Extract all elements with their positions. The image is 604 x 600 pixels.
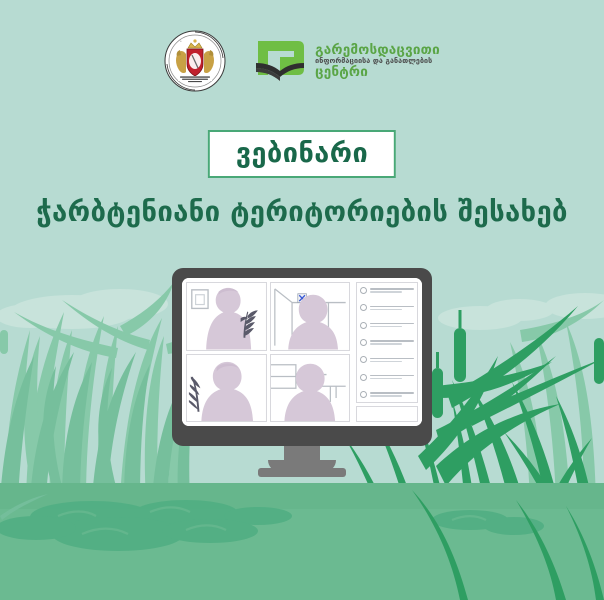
participant-panel-footer[interactable] <box>356 406 418 422</box>
video-tile-grid <box>182 278 354 426</box>
eiec-logo-line3: ცენტრი <box>315 65 440 79</box>
avatar-circle-icon <box>360 304 367 311</box>
avatar-circle-icon <box>360 391 367 398</box>
avatar-circle-icon <box>360 287 367 294</box>
video-tile-4[interactable] <box>270 354 351 423</box>
eiec-logo: გარემოსდაცვითი ინფორმაციისა და განათლები… <box>252 35 440 87</box>
participant-name-placeholder <box>370 306 414 311</box>
avatar-circle-icon <box>360 374 367 381</box>
participant-name-placeholder <box>370 340 414 345</box>
avatar-circle-icon <box>360 339 367 346</box>
list-item[interactable] <box>360 391 414 398</box>
webinar-badge: ვებინარი <box>208 130 396 178</box>
video-tile-3[interactable] <box>186 354 267 423</box>
eiec-logo-line1: გარემოსდაცვითი <box>315 43 440 57</box>
participant-name-placeholder <box>370 375 414 380</box>
avatar-circle-icon <box>360 322 367 329</box>
monitor-bezel <box>172 268 432 446</box>
video-tile-1[interactable] <box>186 282 267 351</box>
header-logo-row: • გარემოსდაცვითი ინფორმაციისა და განათლე… <box>0 26 604 96</box>
desktop-monitor <box>172 268 432 478</box>
list-item[interactable] <box>360 287 414 294</box>
participant-panel[interactable] <box>354 278 422 426</box>
monitor-base <box>258 468 346 477</box>
participant-name-placeholder <box>370 358 414 363</box>
list-item[interactable] <box>360 374 414 381</box>
svg-text:•: • <box>180 39 182 43</box>
list-item[interactable] <box>360 322 414 329</box>
poster-canvas: • გარემოსდაცვითი ინფორმაციისა და განათლე… <box>0 0 604 600</box>
participant-list[interactable] <box>356 282 418 403</box>
participant-name-placeholder <box>370 392 414 397</box>
list-item[interactable] <box>360 339 414 346</box>
webinar-badge-label: ვებინარი <box>236 140 368 167</box>
avatar-circle-icon <box>360 356 367 363</box>
picture-frame-icon <box>192 290 208 309</box>
participant-name-placeholder <box>370 323 414 328</box>
video-tile-2[interactable] <box>270 282 351 351</box>
list-item[interactable] <box>360 304 414 311</box>
georgia-coat-of-arms-icon: • <box>164 30 226 92</box>
list-item[interactable] <box>360 356 414 363</box>
monitor-screen <box>182 278 422 426</box>
poster-subtitle: ჭარბტენიანი ტერიტორიების შესახებ <box>0 196 604 228</box>
eiec-book-icon <box>252 35 308 87</box>
participant-name-placeholder <box>370 288 414 293</box>
